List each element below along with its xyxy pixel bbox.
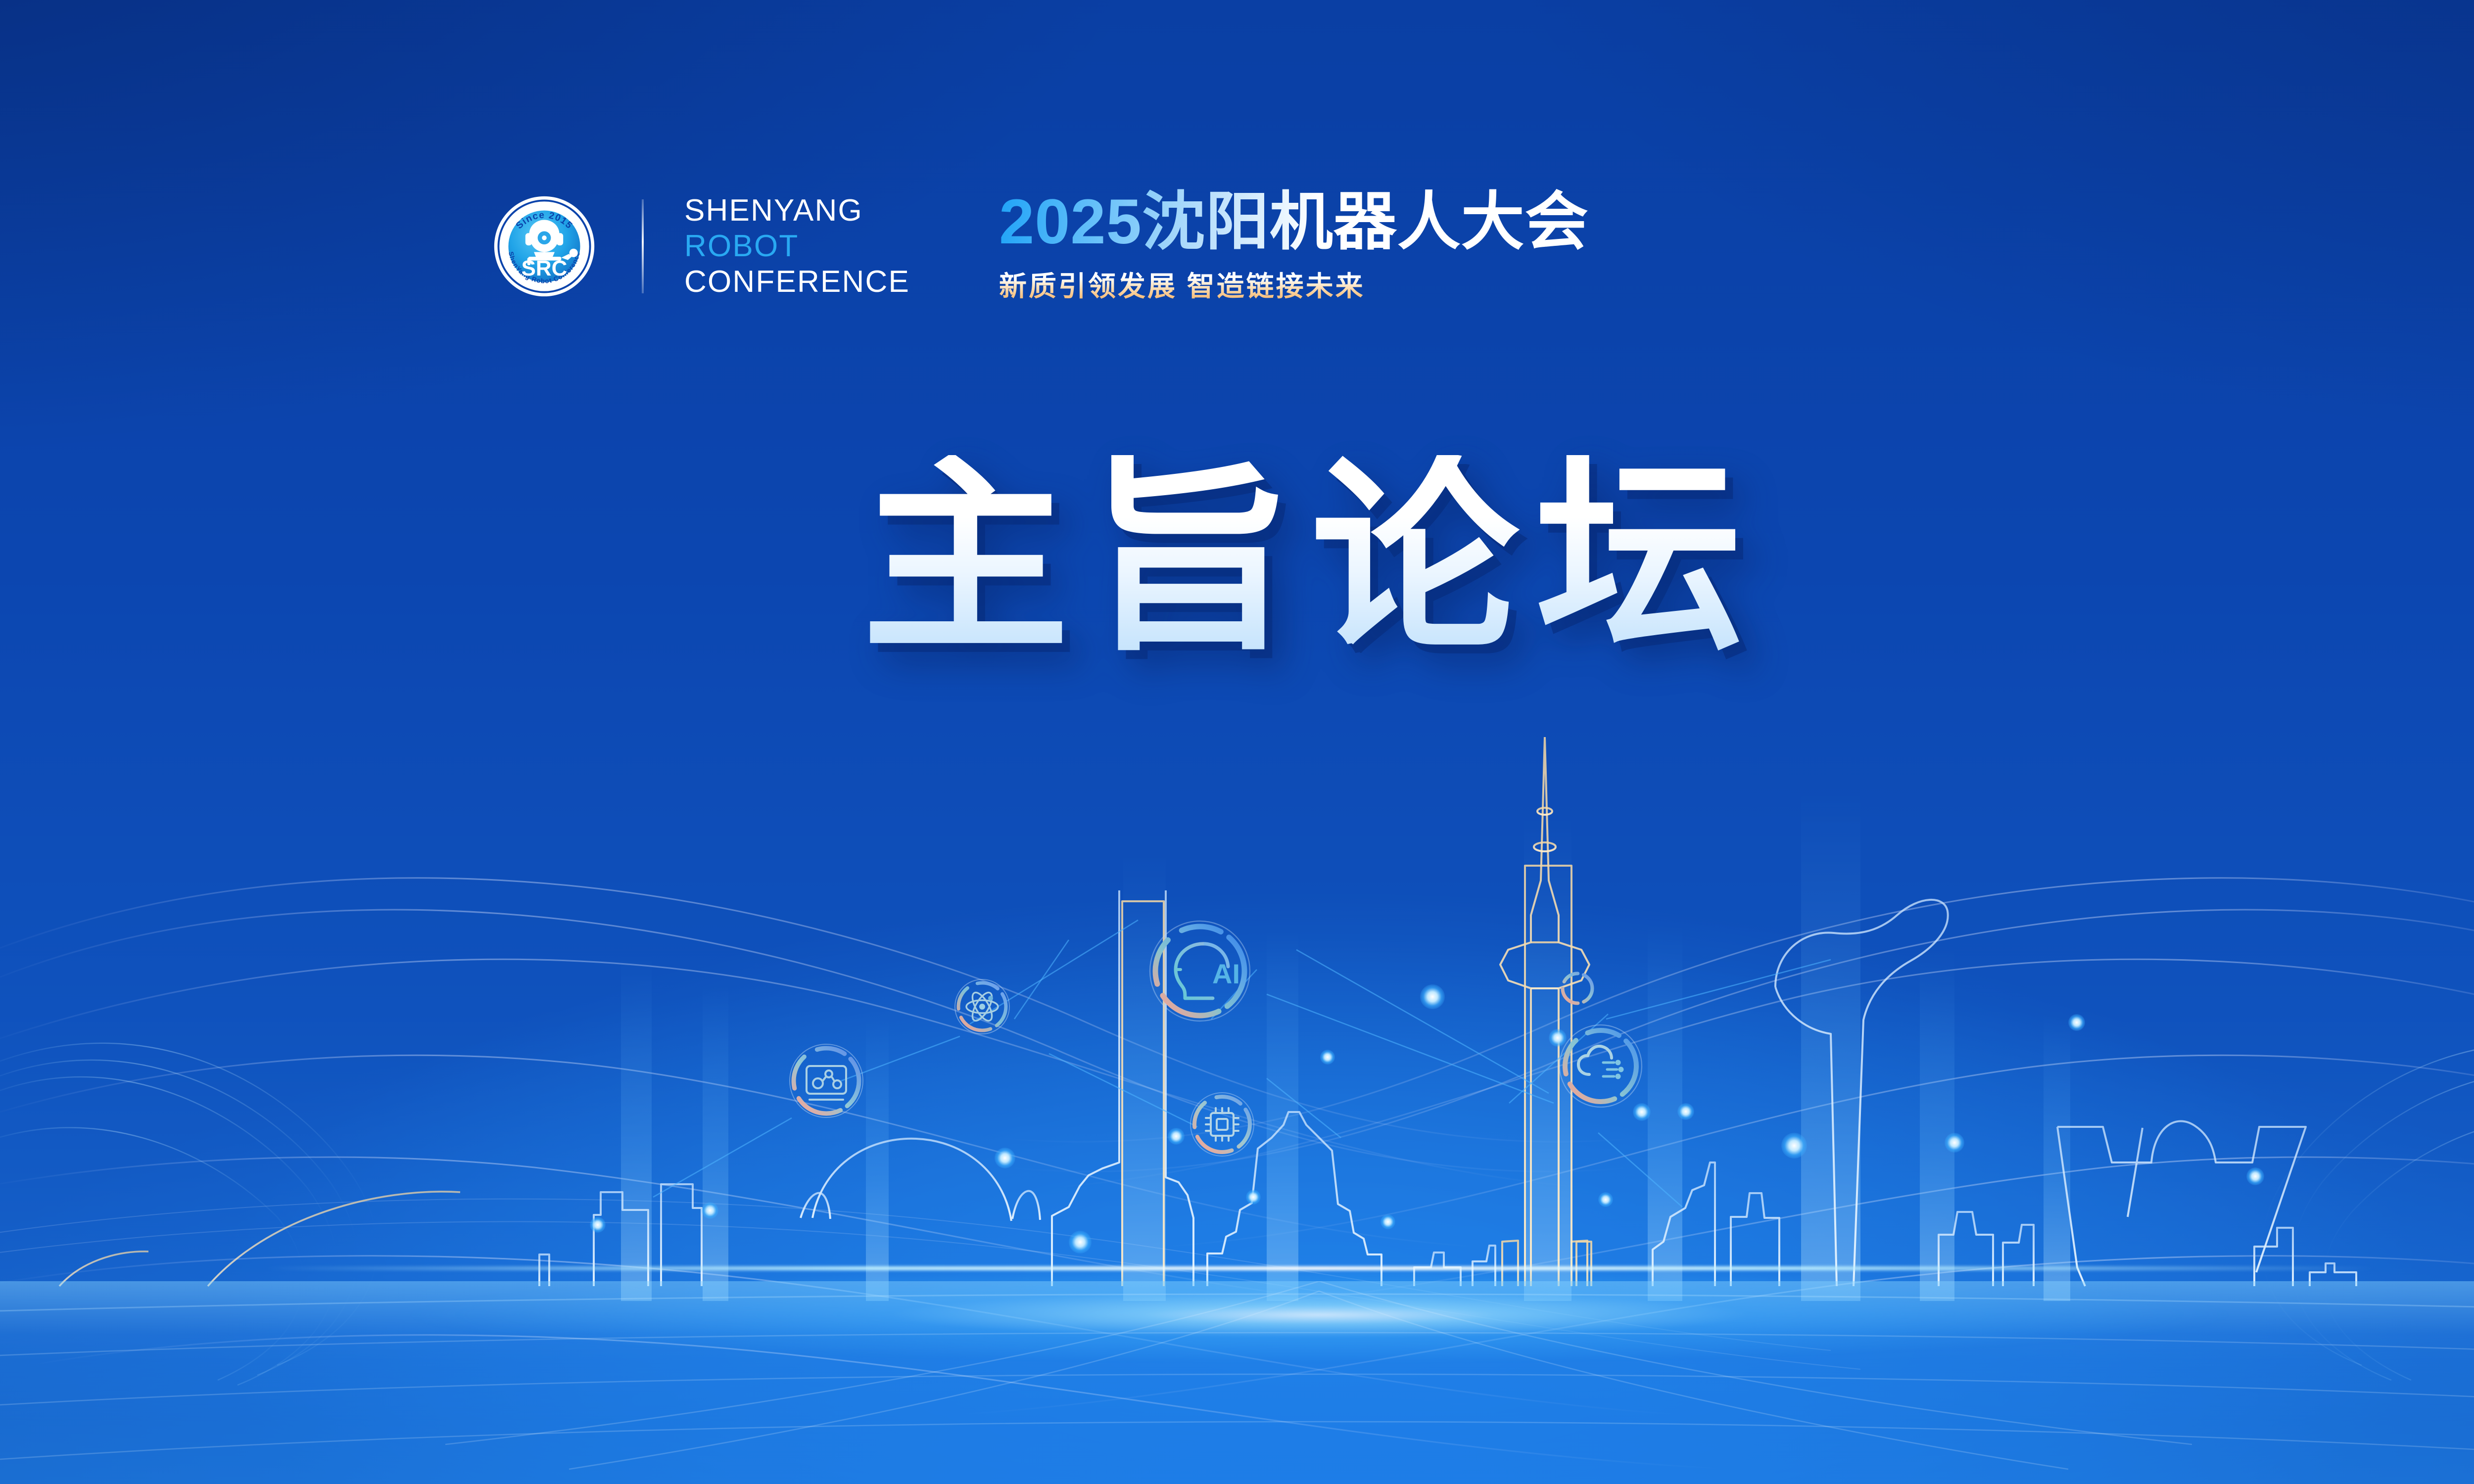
glow-dot: [1781, 1133, 1807, 1159]
glow-dot: [1945, 1133, 1964, 1153]
glow-dot: [1598, 1192, 1613, 1207]
poster-canvas: AI: [0, 0, 2474, 1484]
glow-dot: [1380, 1214, 1395, 1229]
water-reflection: [0, 1281, 2474, 1484]
glow-dot: [590, 1217, 606, 1233]
ai-head-icon: AI: [1143, 914, 1257, 1028]
glow-dot: [702, 1202, 718, 1219]
english-line-robot: ROBOT: [684, 231, 910, 262]
cloud-data-icon: [1554, 1019, 1648, 1113]
hero-title-block: 主旨论坛: [0, 455, 2474, 663]
atom-icon: [950, 974, 1014, 1039]
horizon-light-line: [264, 1266, 2375, 1270]
glow-dot: [995, 1148, 1015, 1168]
ai-label: AI: [1212, 958, 1240, 989]
english-line-conference: CONFERENCE: [684, 267, 910, 297]
glow-dot: [2068, 1014, 2085, 1031]
water-streaks: [0, 1281, 2474, 1484]
conference-slogan-cn: 新质引领发展 智造链接未来: [999, 264, 1589, 304]
glow-dot: [1677, 1103, 1694, 1120]
conference-header: Since 2015 ShenYang Robot Conference: [492, 188, 1589, 304]
small-ring-icon: [1558, 969, 1597, 1008]
chip-icon: [1185, 1087, 1259, 1161]
chinese-name-block: 2025沈阳机器人大会 新质引领发展 智造链接未来: [999, 188, 1589, 304]
conference-title-cn: 2025沈阳机器人大会: [999, 188, 1589, 256]
hero-title: 主旨论坛: [862, 455, 1777, 663]
glow-dot: [1168, 1128, 1185, 1145]
emblem-src-text: SRC: [522, 256, 568, 280]
glow-dot: [1420, 984, 1445, 1009]
monitor-network-icon: [782, 1036, 871, 1125]
glow-dot: [1320, 1050, 1335, 1065]
glow-dot: [2246, 1167, 2264, 1185]
english-line-shenyang: SHENYANG: [684, 195, 910, 226]
src-emblem-logo: Since 2015 ShenYang Robot Conference: [492, 194, 596, 298]
header-divider: [642, 199, 644, 293]
glow-dot: [1246, 1190, 1261, 1205]
english-name-block: SHENYANG ROBOT CONFERENCE: [684, 193, 910, 300]
